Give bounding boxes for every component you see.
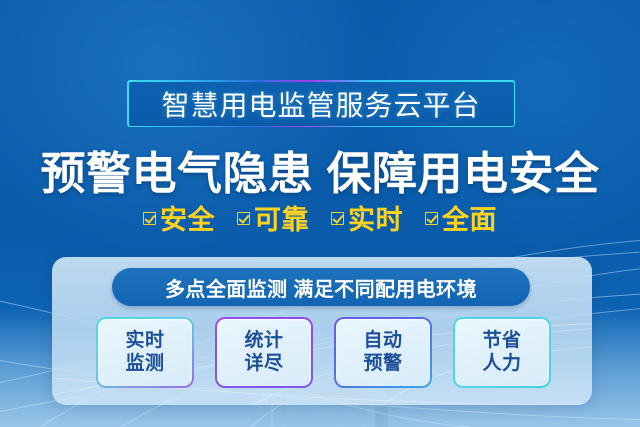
platform-title-chip: 智慧用电监管服务云平台 [127,80,515,127]
feature-card-inner: 节省 人力 [455,319,549,386]
feature-item: 全面 [425,198,497,237]
feature-card-inner: 自动 预警 [336,319,430,386]
platform-title-text: 智慧用电监管服务云平台 [161,84,480,124]
feature-card-labor-saving[interactable]: 节省 人力 [453,317,551,388]
feature-card-list: 实时 监测 统计 详尽 自动 预警 节省 人力 [96,317,551,388]
card-line-2: 监测 [125,353,164,375]
feature-card-inner: 实时 监测 [98,319,192,386]
feature-card-automatic-alarm[interactable]: 自动 预警 [334,317,432,388]
check-square-icon [143,212,156,225]
headline-text: 预警电气隐患 保障用电安全 [0,137,640,202]
feature-label: 全面 [442,198,497,237]
check-square-icon [237,212,250,225]
feature-item: 可靠 [237,198,309,237]
check-square-icon [425,212,438,225]
feature-item: 安全 [143,198,215,237]
feature-card-detailed-statistics[interactable]: 统计 详尽 [215,317,313,388]
promo-poster: 智慧用电监管服务云平台 预警电气隐患 保障用电安全 安全 可靠 实时 全面 [0,0,640,427]
banner-pill-text: 多点全面监测 满足不同配用电环境 [165,273,477,302]
card-line-1: 实时 [125,330,164,352]
feature-card-realtime-monitoring[interactable]: 实时 监测 [96,317,194,388]
feature-label: 安全 [160,198,215,237]
card-line-2: 人力 [482,353,521,375]
banner-pill: 多点全面监测 满足不同配用电环境 [112,268,530,306]
feature-checklist: 安全 可靠 实时 全面 [0,198,640,237]
feature-label: 可靠 [254,198,309,237]
card-line-1: 自动 [363,330,402,352]
check-square-icon [331,212,344,225]
feature-item: 实时 [331,198,403,237]
card-line-1: 统计 [244,330,283,352]
card-line-2: 预警 [363,353,402,375]
feature-card-inner: 统计 详尽 [217,319,311,386]
feature-label: 实时 [348,198,403,237]
card-line-2: 详尽 [244,353,283,375]
card-line-1: 节省 [482,330,521,352]
platform-title-chip-inner: 智慧用电监管服务云平台 [129,82,514,126]
